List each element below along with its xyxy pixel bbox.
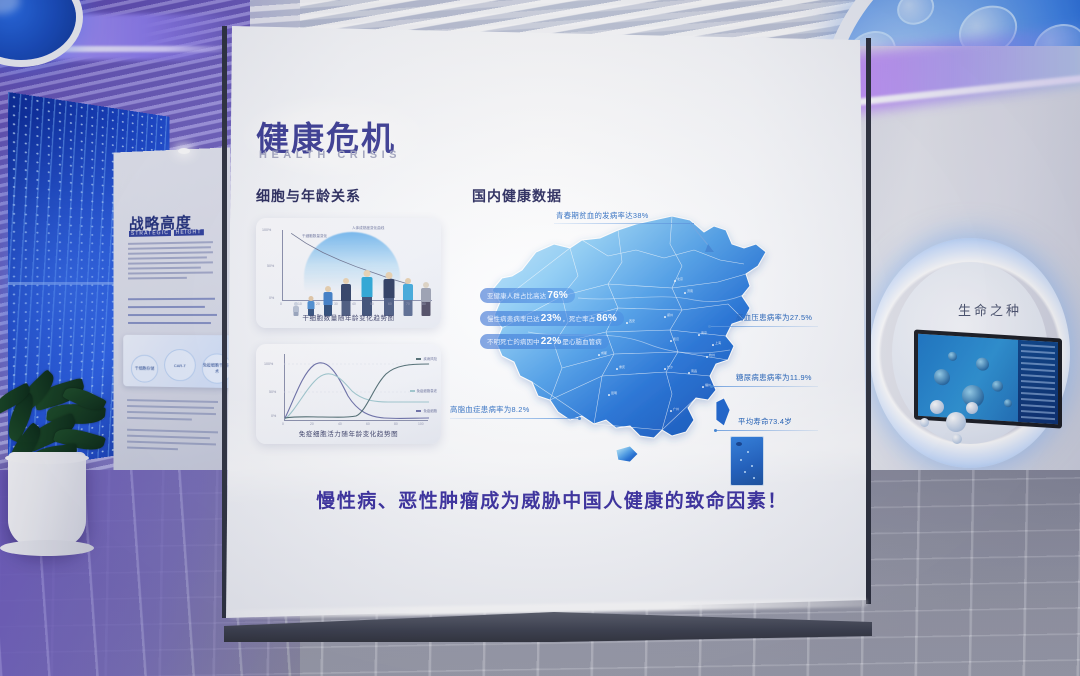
figure-person (402, 278, 414, 316)
chart1-ytick: 100% (262, 228, 271, 232)
chart2-curves (284, 352, 430, 422)
city-dot (608, 394, 610, 396)
section-heading-health-data: 国内健康数据 (472, 186, 562, 206)
stat-pill-text: 是心脑血管病 (562, 337, 602, 346)
main-exhibit-board: 健康危机 HEALTH CRISIS 细胞与年龄关系 国内健康数据 100% 5… (222, 26, 882, 646)
south-china-sea-inset (730, 436, 764, 486)
stat-pill-chronic: 慢性病患病率已达23%，死亡率占86% (480, 311, 624, 326)
strategy-panel-chip-card: 干细胞存储 CAR-T 免疫细胞干预技术 (123, 335, 234, 388)
strategy-panel-bullets (128, 298, 217, 330)
callout-diabetes-dot (710, 385, 713, 388)
callout-hypertension: 高血压患病率为27.5% (736, 312, 812, 323)
city-dot (684, 292, 686, 294)
city-label: 昆明 (611, 391, 617, 395)
stat-pill-subhealth: 亚健康人群占比高达76% (480, 288, 575, 303)
callout-lifespan-rule (714, 430, 818, 431)
city-label: 重庆 (619, 365, 625, 369)
callout-anemia: 青春期贫血的发病率达38% (556, 210, 649, 221)
city-dot (674, 280, 676, 282)
slogan-text: 慢性病、恶性肿瘤成为威胁中国人健康的致命因素！ (252, 486, 852, 513)
city-dot (688, 372, 690, 374)
strategy-panel-footer-text (127, 399, 218, 456)
callout-lipids-rule (450, 418, 580, 419)
cell-graphic (976, 357, 989, 371)
city-label: 广州 (673, 407, 679, 411)
city-label: 武汉 (673, 337, 679, 341)
city-label: 成都 (601, 351, 607, 355)
chart1-xtick: 30 (334, 302, 338, 306)
callout-lifespan-dot (714, 429, 717, 432)
pot-base (0, 540, 94, 556)
city-label: 上海 (715, 341, 721, 345)
chart1-caption: 干细胞数量随年龄变化趋势图 (256, 312, 441, 322)
callout-anemia-rule (554, 223, 694, 224)
chart1-curve-label: 干细胞数量变化 (302, 234, 327, 239)
city-label: 南昌 (691, 369, 697, 373)
chip-stem-cell: 干细胞存储 (131, 355, 158, 383)
life-seed-exhibit[interactable]: 生命之种 (870, 238, 1070, 468)
ceiling-spotlight (178, 148, 190, 154)
stat-pill-value: 86% (596, 313, 617, 324)
callout-hypertension-dot (708, 325, 711, 328)
chart2-caption: 免疫细胞活力随年龄变化趋势图 (256, 428, 441, 438)
city-label: 长沙 (667, 365, 673, 369)
stat-pill-text: 不明死亡的病因中 (487, 337, 540, 346)
exhibition-hall-photo: 生命之种 战略高度 (0, 0, 1080, 676)
stat-pill-text: 亚健康人群占比高达 (487, 291, 546, 300)
city-label: 南京 (701, 331, 707, 335)
city-dot (664, 368, 666, 370)
chart-card-stem-cells: 100% 50% 0% 干细胞数量变化 人体成熟度变化曲线 (256, 218, 441, 328)
pot-rim (5, 452, 89, 464)
chart2-xtick: 80 (394, 422, 398, 426)
city-label: 郑州 (667, 313, 673, 317)
chart1-xtick: 0 (280, 302, 282, 306)
stat-pill-text: 慢性病患病率已达 (487, 314, 540, 323)
city-label: 北京 (677, 277, 683, 281)
cell-graphic (992, 380, 1003, 392)
strategy-panel-body-text (128, 241, 213, 282)
figure-person (360, 270, 373, 316)
chart1-xtick: 60 (388, 302, 392, 306)
chart1-area-label: 人体成熟度变化曲线 (352, 226, 384, 231)
chart2-ytick: 50% (269, 390, 276, 394)
stat-pill-cardio: 不明死亡的病因中22%是心脑血管病 (480, 334, 609, 349)
page-subtitle: HEALTH CRISIS (259, 149, 401, 161)
chart2-xtick: 40 (338, 422, 342, 426)
screen-text-panel (1018, 340, 1058, 424)
figure-person (382, 272, 395, 316)
figure-person (340, 278, 352, 316)
chip-car-t: CAR-T (164, 349, 196, 381)
city-dot (698, 334, 700, 336)
city-dot (664, 316, 666, 318)
chart-card-immune: 100% 50% 0% 疾病风险 免疫细胞衰老 免疫细胞 0 20 40 60 … (256, 344, 441, 444)
city-dot (670, 340, 672, 342)
callout-anemia-leader (690, 222, 718, 256)
chart1-ytick: 50% (267, 264, 274, 268)
chart2-legend-item: 疾病风险 (416, 356, 437, 361)
chart2-ytick: 0% (271, 414, 276, 418)
chart1-xtick: 40 (352, 302, 356, 306)
city-label: 济南 (687, 289, 693, 293)
chart2-legend-item: 免疫细胞 (416, 408, 437, 413)
stat-pill-value: 23% (541, 313, 562, 324)
chart1-xtick: 50 (370, 302, 374, 306)
chart2-xtick: 20 (310, 422, 314, 426)
section-heading-cells: 细胞与年龄关系 (256, 186, 361, 206)
strategy-info-panel[interactable]: 战略高度 STRATEGIC HEIGHT 干细胞存储 CAR-T 免疫细胞干预… (114, 147, 231, 492)
stat-pill-value: 22% (541, 336, 562, 347)
callout-diabetes: 糖尿病患病率为11.9% (736, 372, 812, 383)
strategy-panel-subtitle: STRATEGIC HEIGHT (129, 229, 204, 237)
life-seed-title: 生命之种 (930, 300, 1050, 319)
board-right-edge (866, 38, 871, 604)
chart2-legend-item: 免疫细胞衰老 (410, 388, 437, 393)
city-dot (670, 410, 672, 412)
chart1-xtick: 10 (298, 302, 302, 306)
city-dot (626, 322, 628, 324)
callout-diabetes-rule (710, 386, 818, 387)
city-dot (712, 344, 714, 346)
city-label: 西安 (629, 319, 635, 323)
board-left-edge (222, 26, 227, 618)
china-map-svg (458, 204, 858, 494)
plant-pot (8, 452, 86, 548)
chart2-xtick: 100 (418, 422, 424, 426)
city-dot (598, 354, 600, 356)
city-dot (616, 368, 618, 370)
figure-person (420, 282, 432, 316)
chart1-xtick: 80 (422, 302, 426, 306)
china-map: 北京 济南 郑州 西安 武汉 南京 上海 杭州 成都 重庆 长沙 南昌 福州 (458, 204, 858, 494)
chart1-xtick: 20 (316, 302, 320, 306)
exhibit-inner-panel: 生命之种 (892, 262, 1048, 444)
chart2-ytick: 100% (264, 362, 273, 366)
chart2-xtick: 0 (282, 422, 284, 426)
cell-graphic (934, 369, 950, 386)
callout-lipids: 高脂血症患病率为8.2% (450, 404, 530, 415)
chart1-stemcell-curve (282, 230, 422, 290)
cell-graphic (948, 352, 957, 362)
callout-lifespan: 平均寿命73.4岁 (738, 416, 792, 427)
city-label: 杭州 (709, 353, 715, 357)
city-dot (702, 386, 704, 388)
stat-pill-text: ，死亡率占 (562, 314, 595, 323)
stat-pill-value: 76% (547, 290, 568, 301)
chart1-ytick: 0% (269, 296, 274, 300)
cell-graphic (1004, 399, 1012, 407)
callout-lipids-dot (578, 417, 581, 420)
chart1-xtick: 70 (406, 302, 410, 306)
chart2-xtick: 60 (366, 422, 370, 426)
city-dot (706, 356, 708, 358)
callout-hypertension-rule (708, 326, 818, 327)
